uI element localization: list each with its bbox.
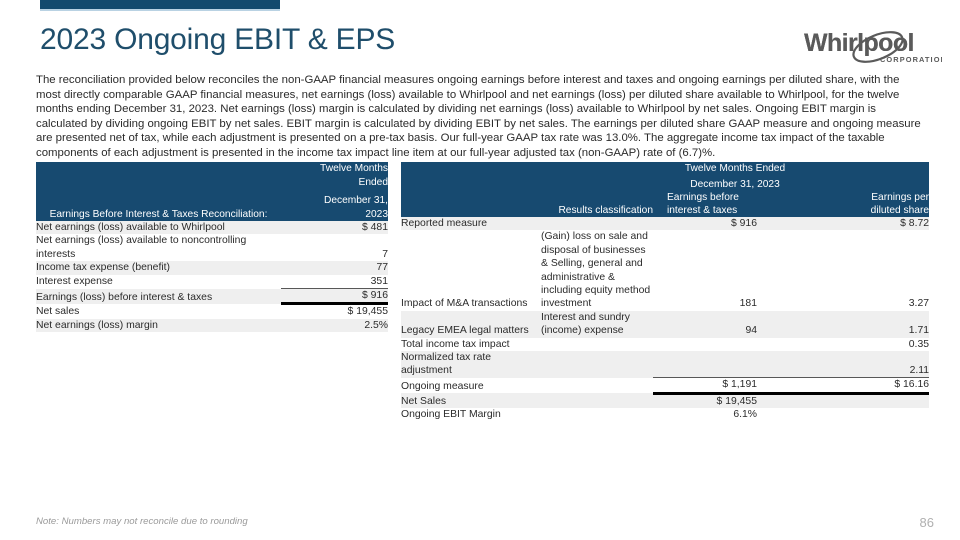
page-number: 86 [920,515,934,530]
row-eps-value: 3.27 [793,230,929,310]
row-label: Net earnings (loss) margin [36,319,281,332]
right-header-eps-line2: diluted share [793,204,929,217]
right-header-ebit: Earnings before interest & taxes [653,191,793,217]
table-row: Reported measure$ 916$ 8.72 [401,217,929,230]
table-row: Net earnings (loss) available to Whirlpo… [36,221,388,234]
whirlpool-logo-svg: Whirlpool Whirlpool CORPORATION [802,24,942,68]
right-header-classification: Results classification [541,191,653,217]
row-ebit-value: $ 1,191 [653,378,793,393]
row-classification [541,393,653,408]
table-row: Net earnings (loss) available to noncont… [36,234,388,261]
row-label: Earnings (loss) before interest & taxes [36,289,281,304]
right-header-period: Twelve Months Ended December 31, 2023 [541,162,929,191]
right-header-measure [401,191,541,217]
right-header-eps-line1: Earnings per [793,191,929,204]
table-row: Net earnings (loss) margin2.5% [36,319,388,332]
table-row: Earnings (loss) before interest & taxes$… [36,289,388,304]
row-eps-value: $ 8.72 [793,217,929,230]
whirlpool-logo: Whirlpool Whirlpool CORPORATION [802,24,942,68]
row-label: Normalized tax rate adjustment [401,351,541,378]
row-value: $ 916 [281,289,388,304]
row-value: 77 [281,261,388,274]
row-label: Ongoing EBIT Margin [401,408,541,421]
right-header-blank [401,162,541,191]
row-eps-value: 1.71 [793,311,929,338]
slide-root: 2023 Ongoing EBIT & EPS Whirlpool Whirlp… [0,0,960,540]
table-row: Legacy EMEA legal mattersInterest and su… [401,311,929,338]
ebit-reconciliation-table: Earnings Before Interest & Taxes Reconci… [36,162,388,332]
right-header-date-text: December 31, 2023 [541,178,929,192]
table-row: Net sales$ 19,455 [36,304,388,319]
row-eps-value [793,408,929,421]
row-classification [541,378,653,393]
table-row: Income tax expense (benefit)77 [36,261,388,274]
row-label: Net Sales [401,393,541,408]
left-header-period-line2: Ended [281,176,388,190]
row-value: 7 [281,234,388,261]
table-row: Interest expense351 [36,275,388,289]
row-eps-value: 2.11 [793,351,929,378]
table-row: Net Sales$ 19,455 [401,393,929,408]
page-title: 2023 Ongoing EBIT & EPS [40,23,395,56]
row-label: Net sales [36,304,281,319]
top-accent-bar [40,0,280,11]
row-label: Net earnings (loss) available to noncont… [36,234,281,261]
row-label: Impact of M&A transactions [401,230,541,310]
table-row: Normalized tax rate adjustment2.11 [401,351,929,378]
row-classification [541,351,653,378]
right-header-ebit-line1: Earnings before [667,191,793,204]
right-header-ebit-line2: interest & taxes [667,204,793,217]
row-value: $ 481 [281,221,388,234]
left-header-period: Twelve Months Ended December 31, 2023 [281,162,388,221]
row-label: Net earnings (loss) available to Whirlpo… [36,221,281,234]
right-header-period-row: Twelve Months Ended December 31, 2023 [401,162,929,191]
right-header-cols-row: Results classification Earnings before i… [401,191,929,217]
left-header-date-line1: December 31, [281,194,388,208]
row-ebit-value: 6.1% [653,408,793,421]
row-label: Legacy EMEA legal matters [401,311,541,338]
right-table-body: Reported measure$ 916$ 8.72Impact of M&A… [401,217,929,422]
right-header-period-text: Twelve Months Ended [541,162,929,176]
table-header-row: Earnings Before Interest & Taxes Reconci… [36,162,388,221]
row-label: Reported measure [401,217,541,230]
row-ebit-value [653,351,793,378]
row-label: Total income tax impact [401,338,541,351]
row-ebit-value [653,338,793,351]
ongoing-measure-table: Twelve Months Ended December 31, 2023 Re… [401,162,929,422]
left-table-body: Net earnings (loss) available to Whirlpo… [36,221,388,332]
row-classification [541,217,653,230]
svg-text:CORPORATION: CORPORATION [880,55,942,64]
row-classification: Interest and sundry (income) expense [541,311,653,338]
row-ebit-value: $ 916 [653,217,793,230]
row-classification [541,338,653,351]
table-row: Impact of M&A transactions(Gain) loss on… [401,230,929,310]
row-classification [541,408,653,421]
svg-text:Whirlpool: Whirlpool [804,29,914,57]
row-ebit-value: 94 [653,311,793,338]
left-header-date-line2: 2023 [281,208,388,222]
row-value: $ 19,455 [281,304,388,319]
row-ebit-value: $ 19,455 [653,393,793,408]
row-label: Ongoing measure [401,378,541,393]
row-eps-value [793,393,929,408]
left-header-label: Earnings Before Interest & Taxes Reconci… [36,162,281,221]
left-header-period-line1: Twelve Months [281,162,388,176]
row-ebit-value: 181 [653,230,793,310]
table-row: Total income tax impact0.35 [401,338,929,351]
row-eps-value: 0.35 [793,338,929,351]
row-value: 351 [281,275,388,289]
footnote: Note: Numbers may not reconcile due to r… [36,516,248,527]
row-classification: (Gain) loss on sale and disposal of busi… [541,230,653,310]
row-label: Income tax expense (benefit) [36,261,281,274]
row-eps-value: $ 16.16 [793,378,929,393]
row-label: Interest expense [36,275,281,289]
intro-paragraph: The reconciliation provided below reconc… [36,73,926,161]
right-header-eps: Earnings per diluted share [793,191,929,217]
table-row: Ongoing measure$ 1,191$ 16.16 [401,378,929,393]
row-value: 2.5% [281,319,388,332]
table-row: Ongoing EBIT Margin6.1% [401,408,929,421]
